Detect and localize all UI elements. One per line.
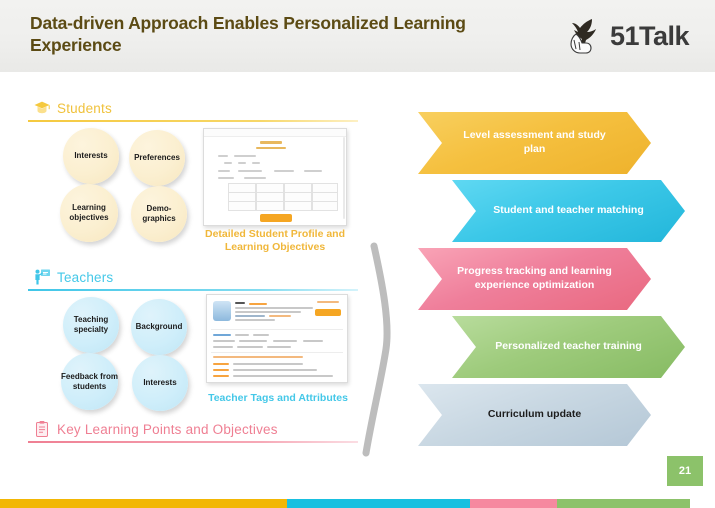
chevron-label: Personalized teacher training xyxy=(495,340,641,354)
teacher-avatar xyxy=(213,301,231,321)
logo-text: 51Talk xyxy=(610,21,689,52)
teacher-review xyxy=(233,363,303,365)
screenshot-line xyxy=(238,162,246,164)
teacher-line xyxy=(235,311,301,313)
teacher-tag xyxy=(213,346,233,348)
screenshot-tab xyxy=(260,141,282,144)
teacher-line xyxy=(235,307,313,309)
teacher-attribute-feedback-from-students[interactable]: Feedback from students xyxy=(61,353,118,410)
screenshot-cell xyxy=(284,201,312,211)
teacher-at-board-icon xyxy=(33,268,51,286)
teacher-profile-screenshot[interactable] xyxy=(206,294,348,383)
page-number: 21 xyxy=(679,465,691,477)
footer-bar-pink xyxy=(470,499,557,508)
footer-bar-yellow xyxy=(0,499,287,508)
teacher-tag xyxy=(239,340,267,342)
circle-label: Feedback from students xyxy=(61,372,118,392)
screenshot-line xyxy=(234,155,256,157)
outcome-chevron-level-assessment[interactable]: Level assessment and study plan xyxy=(418,112,651,174)
screenshot-line xyxy=(224,162,232,164)
clipboard-checklist-icon xyxy=(33,420,51,438)
teacher-attribute-background[interactable]: Background xyxy=(131,299,187,355)
circle-label: Learning objectives xyxy=(60,203,118,223)
circle-label: Demo-graphics xyxy=(131,204,187,224)
screenshot-line xyxy=(218,155,228,157)
section-label-students: Students xyxy=(57,101,112,116)
teacher-tag xyxy=(235,334,249,336)
outcome-chevron-curriculum-update[interactable]: Curriculum update xyxy=(418,384,651,446)
teacher-tag xyxy=(267,346,291,348)
screenshot-scrollbar[interactable] xyxy=(343,137,345,219)
student-screenshot-caption: Detailed Student Profile and Learning Ob… xyxy=(200,228,350,255)
screenshot-line xyxy=(218,170,230,172)
circle-label: Interests xyxy=(143,378,176,388)
screenshot-line xyxy=(256,147,286,149)
circle-label: Interests xyxy=(74,151,107,161)
rating-stars-icon xyxy=(213,375,229,377)
page-number-badge: 21 xyxy=(667,456,703,486)
teacher-name xyxy=(235,302,245,304)
screenshot-cell xyxy=(256,201,284,211)
chevron-label: Progress tracking and learning experienc… xyxy=(452,265,617,292)
section-rule-students xyxy=(28,120,358,122)
slide-body: Students Interests Preferences Learning … xyxy=(0,72,715,508)
teacher-attribute-teaching-specialty[interactable]: Teaching specialty xyxy=(63,297,119,353)
screenshot-line xyxy=(238,170,262,172)
rating-stars-icon xyxy=(213,363,229,365)
section-header-students: Students xyxy=(33,99,112,117)
teacher-screenshot-caption: Teacher Tags and Attributes xyxy=(198,392,358,405)
circle-label: Background xyxy=(136,322,183,332)
teacher-tag xyxy=(303,340,323,342)
teacher-line xyxy=(213,356,303,358)
chevron-label: Curriculum update xyxy=(488,408,581,422)
teacher-review xyxy=(233,369,317,371)
footer-bar-green xyxy=(557,499,690,508)
slide-header: Data-driven Approach Enables Personalize… xyxy=(0,0,715,72)
rating-stars-icon xyxy=(249,303,267,305)
outcome-chevron-student-teacher-matching[interactable]: Student and teacher matching xyxy=(452,180,685,242)
chevron-label: Student and teacher matching xyxy=(493,204,644,218)
outcome-chevron-progress-tracking[interactable]: Progress tracking and learning experienc… xyxy=(418,248,651,310)
graduation-cap-icon xyxy=(33,99,51,117)
teacher-review xyxy=(233,375,333,377)
circle-label: Preferences xyxy=(134,153,180,163)
student-attribute-preferences[interactable]: Preferences xyxy=(129,130,185,186)
brand-logo: 51Talk xyxy=(562,16,689,56)
teacher-tag xyxy=(213,334,231,336)
divider xyxy=(211,352,343,353)
screenshot-line xyxy=(218,177,234,179)
screenshot-toolbar xyxy=(204,129,346,137)
screenshot-submit-button[interactable] xyxy=(260,214,292,222)
screenshot-line xyxy=(244,177,266,179)
screenshot-line xyxy=(304,170,322,172)
student-attribute-learning-objectives[interactable]: Learning objectives xyxy=(60,184,118,242)
section-header-key-points: Key Learning Points and Objectives xyxy=(33,420,278,438)
screenshot-line xyxy=(274,170,294,172)
section-rule-teachers xyxy=(28,289,358,291)
divider xyxy=(211,329,343,330)
section-label-teachers: Teachers xyxy=(57,270,113,285)
curved-brace-divider-icon xyxy=(352,242,422,457)
outcome-chevron-personalized-teacher-training[interactable]: Personalized teacher training xyxy=(452,316,685,378)
screenshot-line xyxy=(252,162,260,164)
screenshot-cell xyxy=(312,201,338,211)
teacher-tag xyxy=(253,334,269,336)
51talk-bird-hand-logo-icon xyxy=(562,16,604,56)
rating-stars-icon xyxy=(213,369,229,371)
teacher-line xyxy=(269,315,291,317)
page-title: Data-driven Approach Enables Personalize… xyxy=(30,12,500,57)
teacher-tag xyxy=(237,346,263,348)
circle-label: Teaching specialty xyxy=(63,315,119,335)
section-rule-key-points xyxy=(28,441,358,443)
teacher-line xyxy=(235,319,275,321)
student-attribute-interests[interactable]: Interests xyxy=(63,128,119,184)
student-profile-screenshot[interactable] xyxy=(203,128,347,226)
slide: Data-driven Approach Enables Personalize… xyxy=(0,0,715,508)
chevron-label: Level assessment and study plan xyxy=(452,129,617,156)
teacher-tag xyxy=(213,340,235,342)
footer-bar-cyan xyxy=(287,499,470,508)
teacher-line xyxy=(317,301,339,303)
screenshot-cell xyxy=(228,201,256,211)
section-label-key-points: Key Learning Points and Objectives xyxy=(57,422,278,437)
teacher-action-button[interactable] xyxy=(315,309,341,316)
student-attribute-demographics[interactable]: Demo-graphics xyxy=(131,186,187,242)
section-header-teachers: Teachers xyxy=(33,268,113,286)
teacher-line xyxy=(235,315,265,317)
teacher-tag xyxy=(273,340,297,342)
teacher-attribute-interests[interactable]: Interests xyxy=(132,355,188,411)
